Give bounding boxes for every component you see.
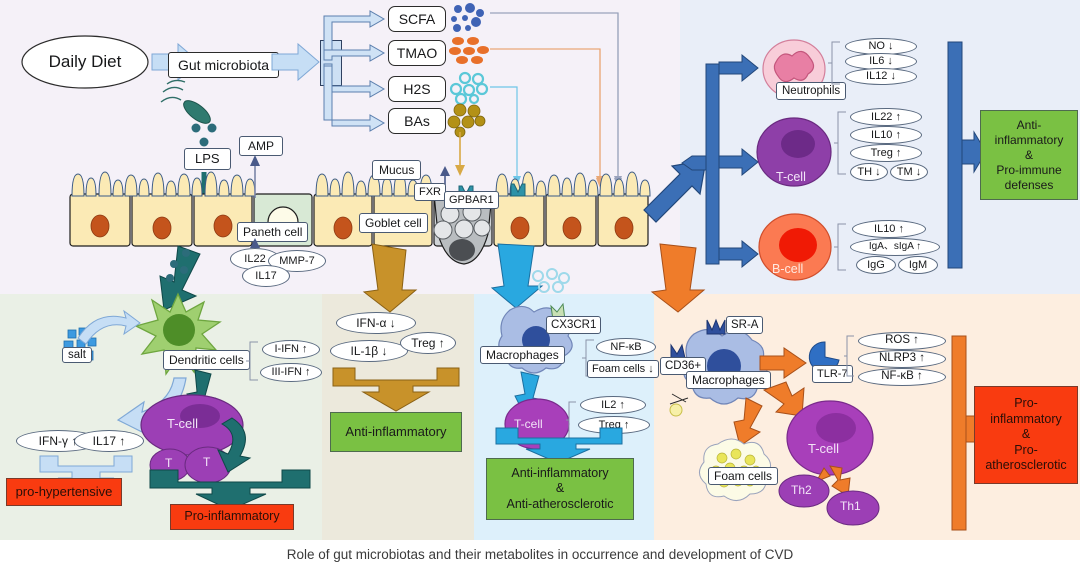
immune-outcome-line-5: defenses bbox=[1005, 178, 1054, 193]
figure-root: Daily Diet Gut microbiota SCFA TMAO H2S … bbox=[0, 0, 1080, 568]
tcell-label-immune-panel: T-cell bbox=[776, 170, 806, 184]
immune-outcome-line-1: Anti- bbox=[1017, 118, 1042, 133]
arrow-salt-to-dendritic bbox=[74, 308, 144, 350]
h2s-particles-icon bbox=[448, 72, 492, 104]
pro-outcome-line-4: Pro- bbox=[1014, 443, 1038, 459]
figure-caption: Role of gut microbiotas and their metabo… bbox=[0, 540, 1080, 568]
tcell-marker-bracket bbox=[834, 110, 850, 176]
immune-outcome-line-4: Pro-immune bbox=[996, 163, 1061, 178]
th1-label: Th1 bbox=[840, 500, 861, 514]
tmao-long-connector bbox=[560, 8, 610, 188]
cholesterol-crystal-icon bbox=[666, 392, 692, 418]
dendritic-cells-label: Dendritic cells bbox=[163, 350, 250, 370]
dendritic-marker-bracket bbox=[246, 340, 262, 382]
pro-marker-nfkb: NF-κB ↑ bbox=[858, 368, 946, 386]
immune-outcome-line-2: inflammatory bbox=[995, 133, 1064, 148]
macrophages-label-panel3: Macrophages bbox=[480, 346, 565, 364]
pro-inflammatory-outcome-box: Pro-inflammatory bbox=[170, 504, 294, 530]
goblet-cell-label: Goblet cell bbox=[359, 213, 428, 233]
pro-marker-nlrp3: NLRP3 ↑ bbox=[858, 350, 946, 368]
arrow-macrophage-to-tlr7 bbox=[760, 346, 808, 380]
gut-microbiota-label: Gut microbiota bbox=[168, 52, 279, 78]
tcell-marker-il10: IL10 ↑ bbox=[850, 126, 922, 144]
tcell-marker-il22: IL22 ↑ bbox=[850, 108, 922, 126]
macro-marker-nfkb: NF-κB bbox=[596, 338, 656, 356]
th2-label: Th2 bbox=[791, 484, 812, 498]
metabolite-box-scfa: SCFA bbox=[388, 6, 446, 32]
pro-outcome-line-5: atherosclerotic bbox=[985, 458, 1066, 474]
metabolite-box-bas: BAs bbox=[388, 108, 446, 134]
tmao-particles-icon bbox=[448, 36, 492, 66]
macro-marker-foam-cells: Foam cells ↓ bbox=[587, 360, 659, 378]
tcell-small-1-label: T bbox=[165, 457, 172, 471]
lps-particles-lower-icon bbox=[160, 248, 196, 290]
pro-hypertensive-outcome-box: pro-hypertensive bbox=[6, 478, 122, 506]
immune-outcome-box: Anti- inflammatory & Pro-immune defenses bbox=[980, 110, 1078, 200]
dendritic-marker-i-ifn: I-IFN ↑ bbox=[262, 340, 320, 359]
macro-outcome-line-3: Anti-atherosclerotic bbox=[507, 497, 614, 513]
paneth-factor-il17: IL17 bbox=[242, 265, 290, 287]
immune-outcome-line-3: & bbox=[1025, 148, 1033, 163]
scfa-particles-icon bbox=[448, 4, 490, 34]
tcell-marker-th: TH ↓ bbox=[850, 163, 888, 181]
pro-outcome-box: Pro- inflammatory & Pro- atherosclerotic bbox=[974, 386, 1078, 484]
cytokine-il17: IL17 ↑ bbox=[74, 430, 144, 452]
arrow-tcell-proliferation bbox=[210, 416, 254, 474]
pro-outcome-line-2: inflammatory bbox=[990, 412, 1062, 428]
bcell-marker-iga: IgA、sIgA ↑ bbox=[850, 238, 940, 256]
tcell-marker-tm: TM ↓ bbox=[890, 163, 928, 181]
pro-outcome-line-1: Pro- bbox=[1014, 396, 1038, 412]
tcell-label-dendritic-panel: T-cell bbox=[167, 417, 198, 432]
amp-label: AMP bbox=[239, 136, 283, 156]
neutrophil-marker-bracket bbox=[828, 40, 844, 86]
tlr7-marker-bracket bbox=[844, 334, 858, 378]
marker-ifn-alpha: IFN-α ↓ bbox=[336, 312, 416, 334]
diagram-canvas: Daily Diet Gut microbiota SCFA TMAO H2S … bbox=[0, 0, 1080, 540]
bcell-marker-il10: IL10 ↑ bbox=[852, 220, 926, 238]
tcell-label-panel4: T-cell bbox=[808, 442, 839, 457]
metabolite-branch-arrows bbox=[322, 8, 392, 128]
bcell-marker-igm: IgM bbox=[898, 256, 938, 274]
bcell-marker-igg: IgG bbox=[856, 256, 896, 274]
neutrophil-marker-il12: IL12 ↓ bbox=[845, 68, 917, 85]
anti-inflammatory-outcome-box: Anti-inflammatory bbox=[330, 412, 462, 452]
macro-outcome-box: Anti-inflammatory & Anti-atherosclerotic bbox=[486, 458, 634, 520]
lps-label: LPS bbox=[184, 148, 231, 170]
metabolite-box-h2s: H2S bbox=[388, 76, 446, 102]
tcell-marker-il2-panel3: IL2 ↑ bbox=[580, 396, 646, 414]
mucus-label: Mucus bbox=[372, 160, 421, 180]
arrow-epithelium-to-antiinflammatory bbox=[358, 244, 428, 314]
foam-cells-label: Foam cells bbox=[708, 467, 778, 485]
sr-a-label: SR-A bbox=[726, 316, 763, 334]
tcell-marker-treg: Treg ↑ bbox=[850, 144, 922, 162]
pro-outcome-line-3: & bbox=[1022, 427, 1030, 443]
metabolite-box-tmao: TMAO bbox=[388, 40, 446, 66]
macro-outcome-line-2: & bbox=[556, 481, 564, 497]
fxr-receptor-label: FXR bbox=[414, 183, 446, 201]
immune-distribution-bracket bbox=[692, 60, 762, 270]
daily-diet-label: Daily Diet bbox=[31, 52, 139, 72]
marker-treg-anti: Treg ↑ bbox=[400, 332, 456, 354]
bcell-marker-bracket bbox=[834, 222, 850, 272]
amp-arrow bbox=[248, 152, 262, 200]
macro-outcome-line-1: Anti-inflammatory bbox=[511, 466, 608, 482]
cx3cr1-label: CX3CR1 bbox=[546, 316, 601, 334]
arrow-anti-inflammatory-converge bbox=[333, 368, 463, 412]
macrophages-label-panel4: Macrophages bbox=[686, 371, 771, 389]
intestinal-epithelium bbox=[68, 172, 663, 250]
pro-marker-ros: ROS ↑ bbox=[858, 332, 946, 350]
gpbar1-receptor-label: GPBAR1 bbox=[444, 191, 499, 209]
bcell-label: B-cell bbox=[772, 262, 803, 276]
marker-il1b: IL-1β ↓ bbox=[330, 340, 408, 362]
arrow-microbiota-to-splitter bbox=[272, 44, 320, 80]
sr-a-receptor-icon bbox=[705, 318, 727, 336]
dendritic-marker-iii-ifn: III-IFN ↑ bbox=[260, 363, 322, 382]
